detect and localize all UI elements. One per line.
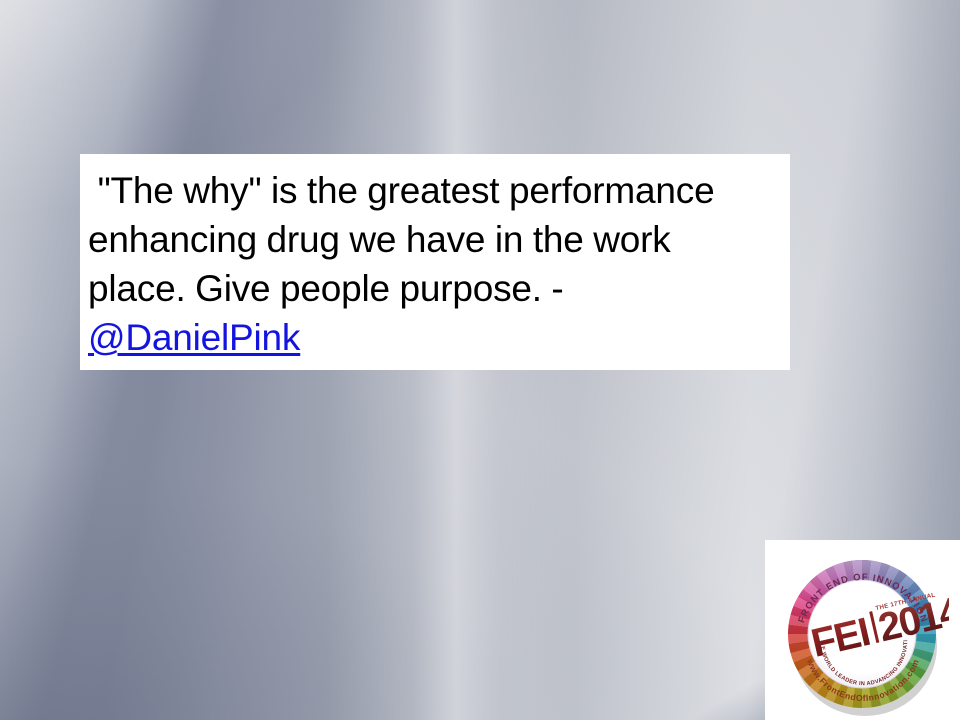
- quote-paragraph: "The why" is the greatest performance en…: [88, 166, 780, 362]
- fei-logo-svg: FRONT END OF INNOVATION www.FrontEndOfIn…: [777, 550, 949, 716]
- quote-line-3: place. Give people purpose. -: [88, 268, 564, 309]
- quote-line-1: "The why" is the greatest performance: [88, 170, 714, 211]
- quote-textbox: "The why" is the greatest performance en…: [80, 154, 790, 370]
- daniel-pink-handle-link[interactable]: @DanielPink: [88, 317, 300, 358]
- fei-logo: FRONT END OF INNOVATION www.FrontEndOfIn…: [777, 550, 949, 716]
- slide-canvas: "The why" is the greatest performance en…: [0, 0, 960, 720]
- fei-logo-panel: FRONT END OF INNOVATION www.FrontEndOfIn…: [765, 540, 960, 720]
- quote-line-2: enhancing drug we have in the work: [88, 219, 671, 260]
